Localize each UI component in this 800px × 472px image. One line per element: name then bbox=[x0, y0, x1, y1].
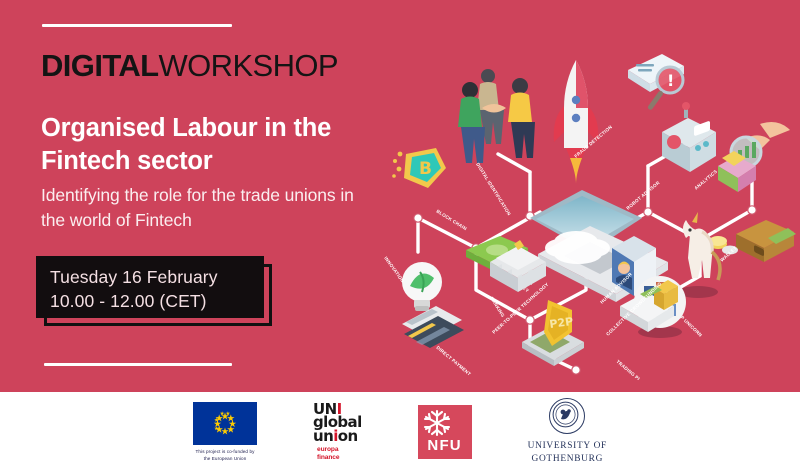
kicker-title: DIGITALWORKSHOP bbox=[41, 50, 338, 81]
european-union-logo: This project is co-funded by the Europea… bbox=[193, 402, 257, 462]
svg-text:!: ! bbox=[667, 71, 674, 90]
workshop-poster: DIGITALWORKSHOP Organised Labour in the … bbox=[0, 0, 800, 472]
gu-seal-icon bbox=[549, 398, 585, 434]
gu-caption: UNIVERSITY OF GOTHENBURG bbox=[528, 440, 607, 465]
kicker-light: WORKSHOP bbox=[158, 48, 338, 83]
label-trading-platform: TRADING PLATFORM bbox=[615, 359, 658, 380]
credit-cards-icon bbox=[402, 306, 464, 348]
robot-icon bbox=[662, 102, 716, 172]
bitcoin-shield-icon: B bbox=[392, 148, 446, 188]
label-innovation: INNOVATION bbox=[383, 256, 405, 284]
university-of-gothenburg-logo: UNIVERSITY OF GOTHENBURG bbox=[528, 398, 607, 465]
page-title: Organised Labour in the Fintech sector bbox=[41, 112, 371, 178]
label-robot-advisor: ROBOT ADVISOR bbox=[625, 180, 661, 211]
fintech-illustration: B BLOCK CHAIN INNOVATION bbox=[380, 40, 800, 380]
uni-sector-label: europa finance bbox=[317, 446, 339, 461]
nfu-wordmark: NFU bbox=[418, 437, 472, 454]
date-box-fill: Tuesday 16 February 10.00 - 12.00 (CET) bbox=[36, 256, 264, 318]
eu-caption-line-1: This project is co-funded by bbox=[196, 449, 255, 454]
bottom-divider-rule bbox=[44, 363, 232, 366]
label-analytics: ANALYTICS bbox=[693, 169, 718, 191]
svg-text:B: B bbox=[419, 159, 432, 179]
lightbulb-icon bbox=[402, 262, 442, 311]
hero-banner: DIGITALWORKSHOP Organised Labour in the … bbox=[0, 0, 800, 392]
uni-on: on bbox=[338, 427, 358, 445]
label-direct-payment: DIRECT PAYMENT bbox=[435, 345, 472, 377]
rocket-icon bbox=[554, 60, 599, 184]
uni-global-union-logo: UNI global union europa finance bbox=[313, 403, 362, 462]
label-digital-identification: DIGITAL IDENTIFICATION bbox=[475, 162, 512, 217]
eu-flag-icon bbox=[193, 402, 257, 445]
page-subtitle: Identifying the role for the trade union… bbox=[41, 183, 361, 233]
magnifier-chart-icon bbox=[718, 122, 790, 192]
logo-row: This project is co-funded by the Europea… bbox=[0, 392, 800, 472]
uni-wordmark: UNI global union bbox=[313, 403, 362, 444]
uni-word-union: union bbox=[313, 430, 362, 444]
label-banking: BANKING bbox=[489, 296, 506, 318]
uni-un2: un bbox=[313, 427, 333, 445]
nfu-logo: NFU bbox=[418, 405, 472, 459]
top-divider-rule bbox=[42, 24, 232, 27]
gu-caption-line-1: UNIVERSITY OF bbox=[528, 441, 607, 451]
kicker-bold: DIGITAL bbox=[41, 48, 158, 83]
event-time: 10.00 - 12.00 (CET) bbox=[50, 289, 264, 313]
event-date: Tuesday 16 February bbox=[50, 265, 264, 289]
magnifier-alert-icon: ! bbox=[628, 54, 684, 111]
nfu-badge: NFU bbox=[418, 405, 472, 459]
date-time-box: Tuesday 16 February 10.00 - 12.00 (CET) bbox=[36, 256, 274, 328]
uni-sub-finance: finance bbox=[317, 454, 339, 462]
eu-caption-line-2: the European Union bbox=[204, 456, 247, 461]
eu-caption: This project is co-funded by the Europea… bbox=[196, 449, 255, 462]
footer-logo-bar: This project is co-funded by the Europea… bbox=[0, 392, 800, 472]
uni-sub-europa: europa bbox=[317, 446, 339, 454]
handshake-people-icon bbox=[458, 69, 535, 163]
gu-caption-line-2: GOTHENBURG bbox=[531, 454, 603, 464]
